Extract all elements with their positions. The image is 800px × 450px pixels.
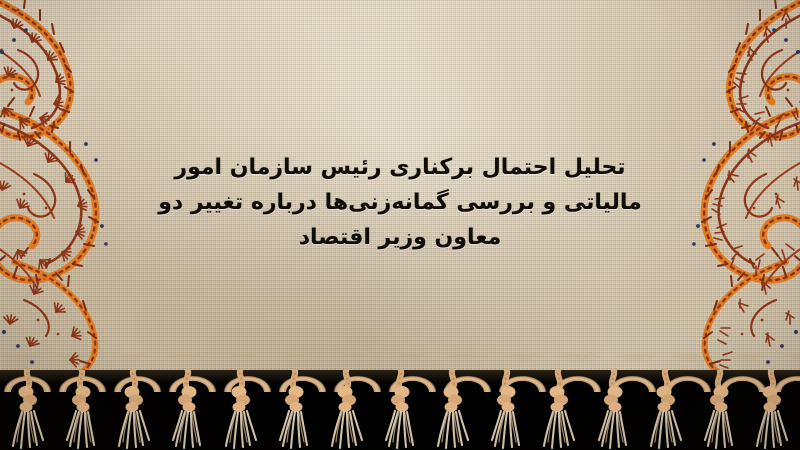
tassel	[215, 370, 267, 450]
tassel	[480, 370, 532, 450]
tassel	[427, 370, 479, 450]
banner-image: تحلیل احتمال برکناری رئیس سازمان امور ما…	[0, 0, 800, 450]
tassel	[693, 370, 745, 450]
tassel	[321, 370, 373, 450]
tassel	[2, 370, 54, 450]
tassel	[640, 370, 692, 450]
tassel	[374, 370, 426, 450]
tassel	[587, 370, 639, 450]
tassel-row	[0, 370, 800, 450]
tassel	[108, 370, 160, 450]
headline-line-3: معاون وزیر اقتصاد	[0, 220, 800, 255]
tassel-fringe-band	[0, 370, 800, 450]
tassel	[55, 370, 107, 450]
headline-line-1: تحلیل احتمال برکناری رئیس سازمان امور	[0, 150, 800, 185]
tassel	[161, 370, 213, 450]
tassel	[533, 370, 585, 450]
headline-line-2: مالیاتی و بررسی گمانه‌زنی‌ها درباره تغیی…	[0, 185, 800, 220]
tassel	[268, 370, 320, 450]
headline-text: تحلیل احتمال برکناری رئیس سازمان امور ما…	[0, 150, 800, 255]
tassel	[746, 370, 798, 450]
